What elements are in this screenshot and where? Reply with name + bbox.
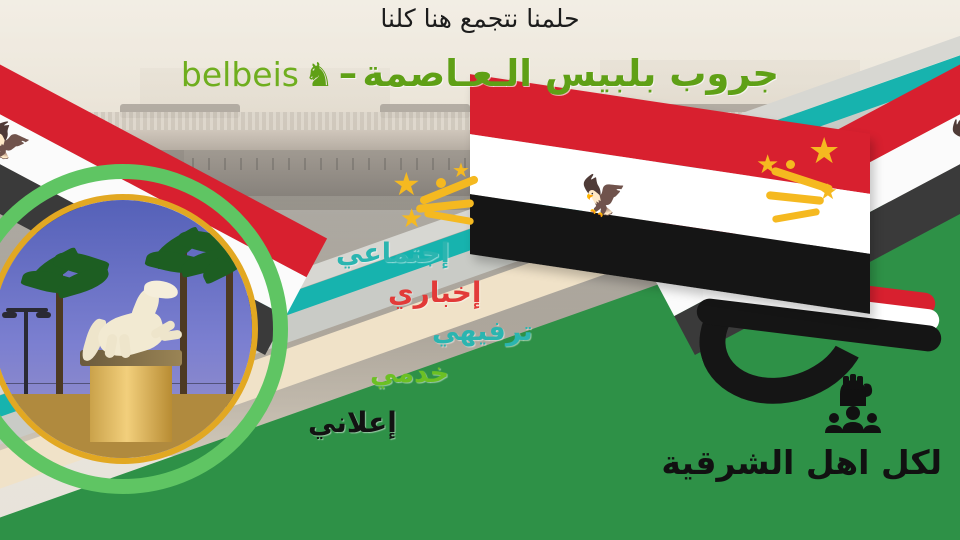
tag-social-label: إجتماعي	[336, 238, 450, 269]
tag-service: خدمي	[370, 358, 449, 389]
photo-ring-inner	[0, 194, 258, 464]
title-arabic: جروب بلبيس الـعـاصمة	[362, 52, 779, 95]
tag-ads: إعلاني	[308, 406, 397, 439]
eagle-of-saladin-icon: 🦅	[580, 171, 620, 221]
tag-service-label: خدمي	[370, 358, 449, 389]
tag-ads-label: إعلاني	[308, 406, 397, 439]
tag-social: إجتماعي	[336, 238, 450, 269]
chess-knight-icon: ♞	[304, 55, 334, 94]
tag-entertainment-label: ترفيهي	[432, 316, 533, 347]
monument-photo	[0, 200, 252, 458]
egypt-waving-flag: 🦅	[470, 96, 940, 336]
title-separator: –	[339, 52, 358, 95]
tagline: حلمنا نتجمع هنا كلنا	[0, 4, 960, 33]
tag-news: إخباري	[388, 276, 482, 309]
tag-entertainment: ترفيهي	[432, 316, 533, 347]
raised-fist-people-icon	[820, 370, 886, 436]
flag-stripes	[470, 74, 870, 314]
page-title: جروب بلبيس الـعـاصمة – ♞ belbeis	[0, 52, 960, 95]
poster-canvas: 🦅 🦅	[0, 0, 960, 540]
title-english: belbeis	[181, 55, 299, 94]
tag-news-label: إخباري	[388, 276, 482, 309]
statue-pedestal	[90, 364, 172, 442]
brand-text: لكل اهل الشرقية	[661, 443, 942, 482]
